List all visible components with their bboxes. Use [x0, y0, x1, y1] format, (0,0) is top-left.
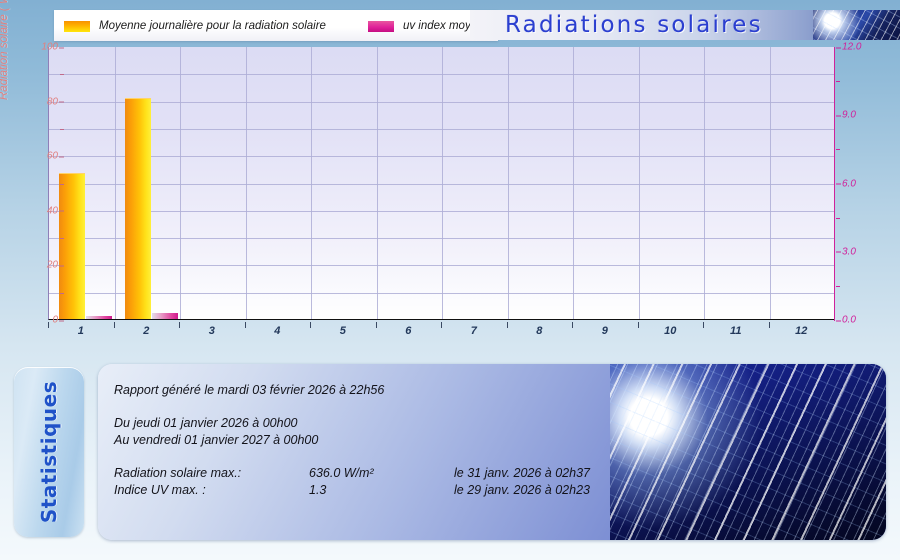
gridline-vertical	[639, 47, 640, 319]
x-axis-labels: 123456789101112	[48, 322, 834, 344]
page-title: Radiations solaires	[505, 12, 763, 38]
statistics-tab-label: Statistiques	[37, 381, 61, 523]
right-axis-minor-tick	[836, 81, 840, 82]
x-axis-tick-label: 2	[143, 325, 149, 337]
solar-panel-stripes	[813, 10, 900, 40]
chart-legend: Moyenne journalière pour la radiation so…	[54, 10, 498, 41]
left-axis-tick-label: 60	[18, 151, 58, 162]
statistics-panel: Rapport généré le mardi 03 février 2026 …	[98, 364, 886, 540]
x-axis-tick-label: 11	[730, 325, 741, 337]
right-axis-line	[834, 47, 835, 321]
report-generated-line: Rapport généré le mardi 03 février 2026 …	[114, 382, 674, 399]
x-axis-tick-label: 12	[795, 325, 807, 337]
left-axis-minor-tick	[60, 238, 64, 239]
left-axis-title: Radiation solaire ( W/m² )	[0, 0, 10, 100]
statistics-row: Indice UV max. :1.3le 29 janv. 2026 à 02…	[114, 482, 674, 499]
solar-panel-photo-icon	[813, 10, 900, 40]
x-axis-tick-mark	[441, 322, 442, 328]
x-axis-tick-label: 1	[78, 325, 84, 337]
left-axis-minor-tick	[60, 129, 64, 130]
x-axis-tick-mark	[769, 322, 770, 328]
statistics-label: Radiation solaire max.:	[114, 465, 309, 482]
x-axis-tick-mark	[638, 322, 639, 328]
spacer-2	[114, 449, 674, 465]
solar-radiation-chart-card: Radiation solaire ( W/m² ) Index UV ( ) …	[0, 0, 900, 348]
right-axis-tick-label: 0.0	[842, 315, 886, 326]
statistics-when: le 31 janv. 2026 à 02h37	[454, 465, 674, 482]
gridline-vertical	[508, 47, 509, 319]
x-axis-tick-label: 4	[274, 325, 280, 337]
right-axis-minor-tick	[836, 149, 840, 150]
x-axis-tick-mark	[376, 322, 377, 328]
right-axis-tick-label: 3.0	[842, 246, 886, 257]
range-to-line: Au vendredi 01 janvier 2027 à 00h00	[114, 432, 674, 449]
x-axis-tick-label: 8	[536, 325, 542, 337]
bar-uv-index	[86, 316, 112, 319]
statistics-row: Radiation solaire max.:636.0 W/m²le 31 j…	[114, 465, 674, 482]
x-axis-tick-mark	[245, 322, 246, 328]
chart-plot-area	[48, 47, 834, 320]
x-axis-tick-label: 5	[340, 325, 346, 337]
left-axis-minor-tick	[60, 184, 64, 185]
left-axis-minor-tick	[60, 293, 64, 294]
left-axis-tick-label: 80	[18, 96, 58, 107]
gridline-vertical	[704, 47, 705, 319]
statistics-when: le 29 janv. 2026 à 02h23	[454, 482, 674, 499]
statistics-label: Indice UV max. :	[114, 482, 309, 499]
right-axis-minor-tick	[836, 218, 840, 219]
range-from-line: Du jeudi 01 janvier 2026 à 00h00	[114, 415, 674, 432]
x-axis-tick-mark	[179, 322, 180, 328]
left-axis-tick-label: 100	[18, 42, 58, 53]
gridline-vertical	[442, 47, 443, 319]
x-axis-tick-mark	[310, 322, 311, 328]
gridline-vertical	[180, 47, 181, 319]
x-axis-tick-label: 6	[405, 325, 411, 337]
right-axis-minor-tick	[836, 286, 840, 287]
gridline-vertical	[377, 47, 378, 319]
statistics-rows: Radiation solaire max.:636.0 W/m²le 31 j…	[114, 465, 674, 499]
statistics-value: 1.3	[309, 482, 454, 499]
x-axis-tick-mark	[114, 322, 115, 328]
legend-swatch-solar-radiation	[64, 21, 90, 32]
left-axis-tick-label: 40	[18, 205, 58, 216]
x-axis-tick-label: 3	[209, 325, 215, 337]
x-axis-tick-mark	[48, 322, 49, 328]
left-axis-minor-tick	[60, 74, 64, 75]
bar-solar-radiation	[125, 98, 151, 319]
legend-label-solar-radiation: Moyenne journalière pour la radiation so…	[99, 20, 326, 32]
right-axis-tick-label: 6.0	[842, 178, 886, 189]
gridline-vertical	[311, 47, 312, 319]
bar-uv-index	[152, 313, 178, 319]
gridline-vertical	[573, 47, 574, 319]
statistics-text-block: Rapport généré le mardi 03 février 2026 …	[114, 382, 674, 499]
gridline-vertical	[246, 47, 247, 319]
right-axis-tick-label: 12.0	[842, 42, 886, 53]
right-axis-tick-label: 9.0	[842, 110, 886, 121]
spacer-1	[114, 399, 674, 415]
left-axis-tick-label: 20	[18, 260, 58, 271]
legend-swatch-uv-index	[368, 21, 394, 32]
x-axis-tick-label: 7	[471, 325, 477, 337]
gridline-vertical	[115, 47, 116, 319]
x-axis-tick-label: 9	[602, 325, 608, 337]
statistics-value: 636.0 W/m²	[309, 465, 454, 482]
x-axis-tick-mark	[507, 322, 508, 328]
bar-solar-radiation	[59, 173, 85, 319]
x-axis-tick-mark	[703, 322, 704, 328]
statistics-tab[interactable]: Statistiques	[14, 367, 84, 537]
x-axis-tick-mark	[572, 322, 573, 328]
chart-title-bar: Radiations solaires	[470, 10, 900, 40]
x-axis-tick-label: 10	[664, 325, 676, 337]
gridline-vertical	[770, 47, 771, 319]
